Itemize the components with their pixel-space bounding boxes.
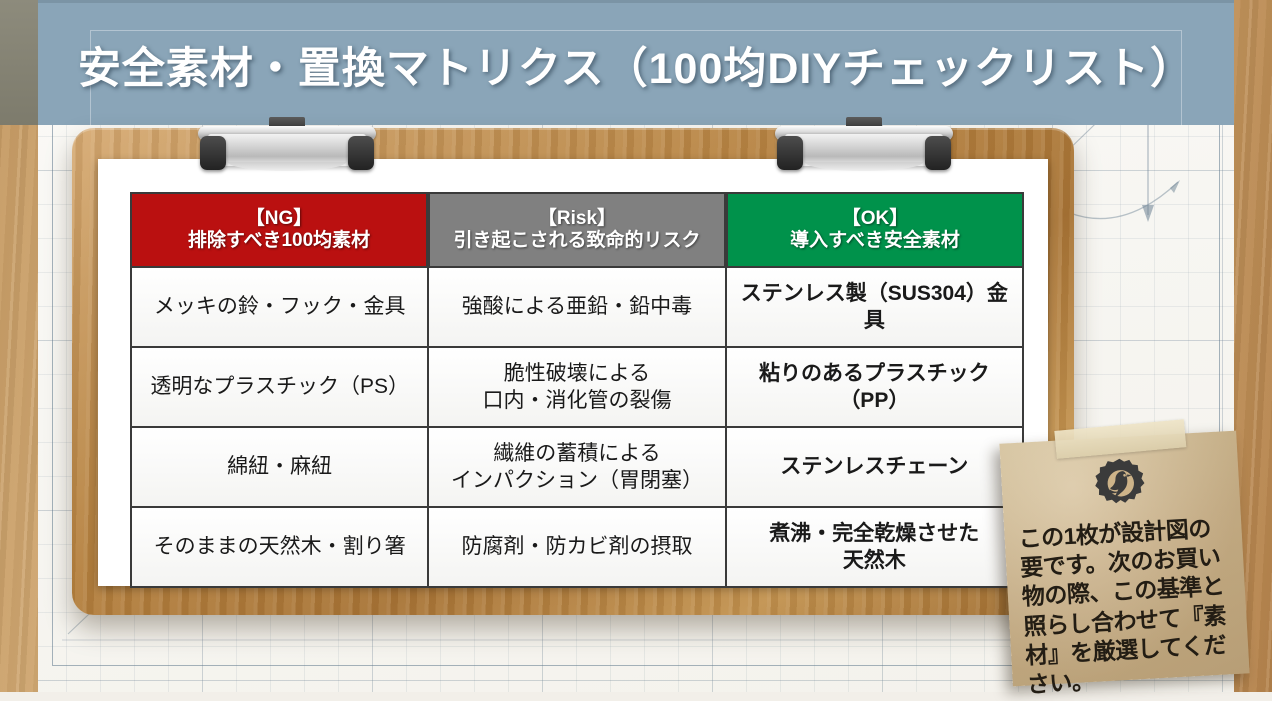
clip-grip-right-icon [925, 136, 951, 170]
title-band: 安全素材・置換マトリクス（100均DIYチェックリスト） [38, 0, 1234, 125]
clip-grip-right-icon [348, 136, 374, 170]
clip-grip-left-icon [200, 136, 226, 170]
clipboard-clip-right[interactable] [775, 122, 953, 170]
desk-shadow-strip [0, 0, 38, 125]
cell-ok: ステンレス製（SUS304）金具 [725, 268, 1022, 346]
safety-material-matrix: 【NG】 排除すべき100均素材 【Risk】 引き起こされる致命的リスク 【O… [130, 192, 1024, 588]
clip-lip [228, 162, 346, 171]
gear-bird-icon [1089, 453, 1152, 516]
matrix-header-risk-subtitle: 引き起こされる致命的リスク [453, 230, 700, 252]
cell-risk: 繊維の蓄積によるインパクション（胃閉塞） [427, 428, 724, 506]
cell-ng: そのままの天然木・割り箸 [132, 508, 427, 586]
matrix-header-ng-tag: 【NG】 [246, 208, 313, 230]
cell-risk: 防腐剤・防カビ剤の摂取 [427, 508, 724, 586]
cell-ng: メッキの鈴・フック・金具 [132, 268, 427, 346]
sticky-note-text: この1枚が設計図の要です。次のお買い物の際、この基準と照らし合わせて『素材』を厳… [1018, 513, 1240, 700]
matrix-header-ok-tag: 【OK】 [842, 208, 909, 230]
matrix-header-ng: 【NG】 排除すべき100均素材 [132, 194, 426, 266]
matrix-header-risk: 【Risk】 引き起こされる致命的リスク [430, 194, 724, 266]
clip-lip [805, 162, 923, 171]
cell-ng: 綿紐・麻紐 [132, 428, 427, 506]
page-title: 安全素材・置換マトリクス（100均DIYチェックリスト） [38, 34, 1234, 96]
clip-grip-left-icon [777, 136, 803, 170]
title-band-topline [38, 0, 1234, 3]
matrix-header-row: 【NG】 排除すべき100均素材 【Risk】 引き起こされる致命的リスク 【O… [132, 194, 1022, 266]
matrix-header-ok-subtitle: 導入すべき安全素材 [790, 230, 960, 252]
cell-ok: ステンレスチェーン [725, 428, 1022, 506]
cell-ok: 煮沸・完全乾燥させた天然木 [725, 508, 1022, 586]
matrix-header-risk-tag: 【Risk】 [538, 208, 616, 230]
matrix-header-ok: 【OK】 導入すべき安全素材 [728, 194, 1022, 266]
cell-risk: 脆性破壊による口内・消化管の裂傷 [427, 348, 724, 426]
cell-risk: 強酸による亜鉛・鉛中毒 [427, 268, 724, 346]
clipboard-clip-left[interactable] [198, 122, 376, 170]
table-row: 透明なプラスチック（PS） 脆性破壊による口内・消化管の裂傷 粘りのあるプラスチ… [132, 346, 1022, 426]
table-row: そのままの天然木・割り箸 防腐剤・防カビ剤の摂取 煮沸・完全乾燥させた天然木 [132, 506, 1022, 586]
table-row: メッキの鈴・フック・金具 強酸による亜鉛・鉛中毒 ステンレス製（SUS304）金… [132, 266, 1022, 346]
table-row: 綿紐・麻紐 繊維の蓄積によるインパクション（胃閉塞） ステンレスチェーン [132, 426, 1022, 506]
cell-ok: 粘りのあるプラスチック（PP） [725, 348, 1022, 426]
matrix-header-ng-subtitle: 排除すべき100均素材 [188, 230, 370, 252]
cell-ng: 透明なプラスチック（PS） [132, 348, 427, 426]
sticky-note: この1枚が設計図の要です。次のお買い物の際、この基準と照らし合わせて『素材』を厳… [999, 431, 1249, 687]
